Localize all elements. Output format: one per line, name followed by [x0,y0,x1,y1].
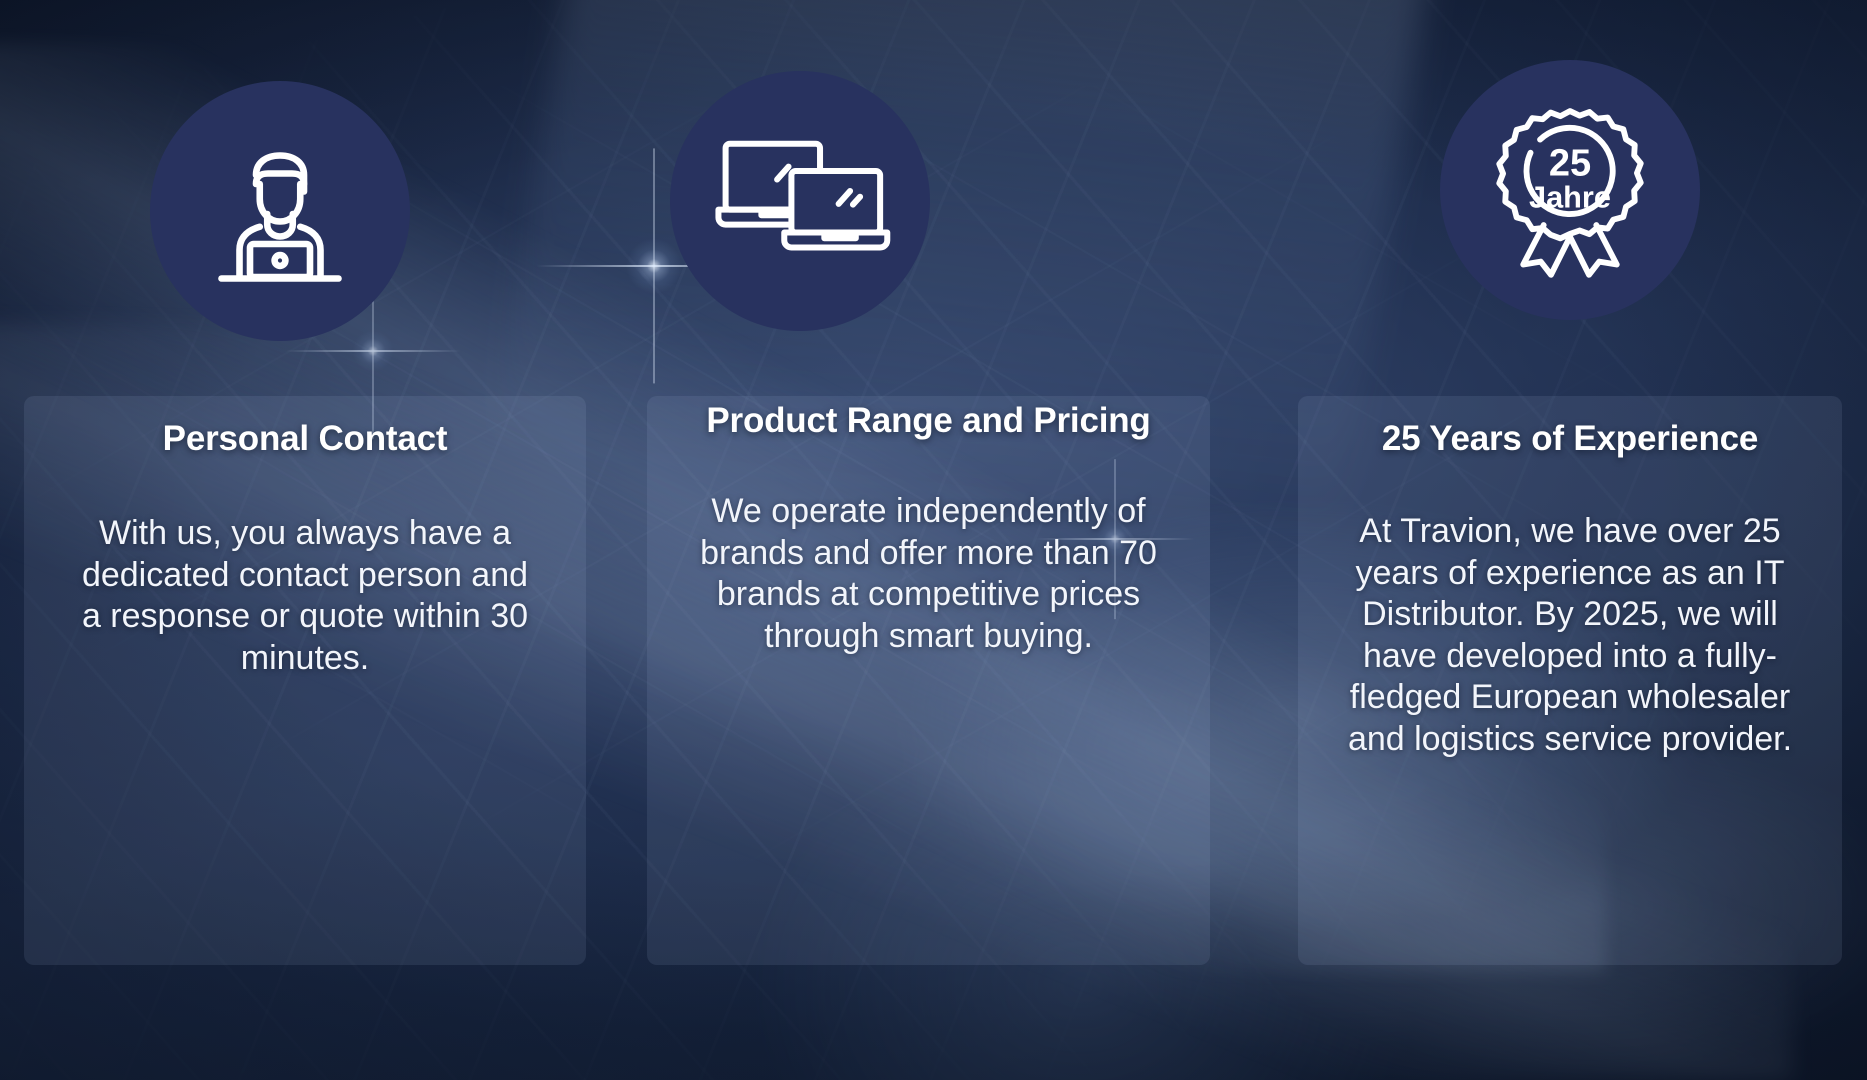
icon-circle-personal-contact [150,81,410,341]
card-title: Personal Contact [50,418,560,459]
badge-label: Jahre [1529,180,1611,215]
icon-circle-product-range [670,71,930,331]
anniversary-badge-icon: 25 Jahre [1475,95,1665,285]
icon-circle-experience: 25 Jahre [1440,60,1700,320]
badge-number: 25 [1549,142,1591,184]
two-laptops-icon [707,108,893,294]
card-body: With us, you always have a dedicated con… [70,513,540,679]
person-at-laptop-icon [190,121,370,301]
card-title: Product Range and Pricing [673,400,1184,441]
feature-card-product-range: Product Range and Pricing We operate ind… [647,396,1210,965]
feature-card-experience: 25 Years of Experience At Travion, we ha… [1298,396,1842,965]
card-body: We operate independently of brands and o… [679,491,1179,657]
feature-card-personal-contact: Personal Contact With us, you always hav… [24,396,586,965]
card-title: 25 Years of Experience [1324,418,1816,459]
card-body: At Travion, we have over 25 years of exp… [1324,511,1816,760]
hero-features-section: 25 Jahre Personal Contact With us, you a… [0,0,1867,1080]
